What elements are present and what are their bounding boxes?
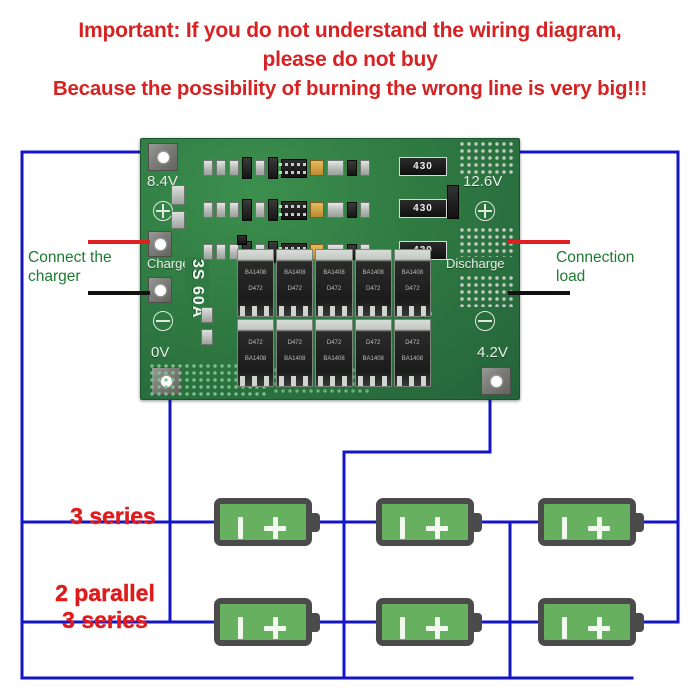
mosfet-legs xyxy=(358,306,389,316)
mosfet-marking: BA1408 xyxy=(277,356,312,362)
smd-resistor xyxy=(360,160,370,176)
smd-resistor xyxy=(171,185,185,205)
series-label-bottom: 2 parallel 3 series xyxy=(20,580,190,634)
smd-resistor xyxy=(203,160,213,176)
bms-board[interactable]: 8.4V 0V 12.6V 4.2V Charge Discharge CD F… xyxy=(140,138,520,400)
smd-transistor xyxy=(268,199,278,221)
smd-mosfet-small xyxy=(447,185,459,219)
mosfet: BA1408D472 xyxy=(237,249,274,317)
balance-ic xyxy=(281,159,307,178)
plus-pad-icon-left xyxy=(153,201,173,221)
smd-transistor xyxy=(242,157,252,179)
mosfet-marking: BA1408 xyxy=(356,356,391,362)
battery-positive-icon xyxy=(426,517,448,539)
mosfet-legs xyxy=(279,306,310,316)
mosfet-marking: D472 xyxy=(238,286,273,292)
battery-body xyxy=(538,498,636,546)
battery-body xyxy=(214,498,312,546)
battery-terminal-cap xyxy=(310,513,320,532)
warning-line-1: Important: If you do not understand the … xyxy=(0,16,700,45)
silk-voltage-bottom-right: 4.2V xyxy=(477,344,508,361)
mosfet-marking: BA1408 xyxy=(277,270,312,276)
series-label-bottom-line-2: 3 series xyxy=(20,607,190,634)
connect-charger-line-1: Connect the xyxy=(28,248,112,267)
smd-transistor xyxy=(268,157,278,179)
mosfet-marking: BA1408 xyxy=(395,270,430,276)
minus-pad-icon-left xyxy=(153,311,173,331)
smd-resistor xyxy=(229,160,239,176)
battery-body xyxy=(376,598,474,646)
mosfet-marking: BA1408 xyxy=(238,356,273,362)
battery-positive-icon xyxy=(264,617,286,639)
plus-pad-icon-right xyxy=(475,201,495,221)
mosfet: BA1408D472 xyxy=(276,249,313,317)
smd-resistor xyxy=(327,202,344,218)
mosfet-marking: D472 xyxy=(356,340,391,346)
mosfet-legs xyxy=(397,376,428,386)
smd-resistor xyxy=(255,160,265,176)
mosfet-marking: D472 xyxy=(356,286,391,292)
mosfet-marking: BA1408 xyxy=(356,270,391,276)
balance-ic xyxy=(281,201,307,220)
battery-cell[interactable] xyxy=(214,498,320,546)
mosfet-legs xyxy=(358,376,389,386)
battery-negative-icon xyxy=(238,617,243,639)
battery-terminal-cap xyxy=(310,613,320,632)
mosfet: BA1408D472 xyxy=(315,249,352,317)
battery-terminal-cap xyxy=(472,513,482,532)
battery-cell[interactable] xyxy=(538,598,644,646)
holes-discharge-positive[interactable] xyxy=(459,227,515,257)
holes-pack-positive[interactable] xyxy=(459,141,515,177)
mosfet-marking: BA1408 xyxy=(316,270,351,276)
mosfet-legs xyxy=(318,306,349,316)
smd-resistor xyxy=(360,202,370,218)
battery-body xyxy=(538,598,636,646)
mosfet-marking: BA1408 xyxy=(395,356,430,362)
battery-cell[interactable] xyxy=(376,598,482,646)
series-label-top: 3 series xyxy=(38,503,188,530)
smd-resistor xyxy=(216,160,226,176)
smd-resistor xyxy=(229,202,239,218)
battery-negative-icon xyxy=(238,517,243,539)
battery-negative-icon xyxy=(562,517,567,539)
battery-negative-icon xyxy=(400,517,405,539)
smd-resistor xyxy=(255,202,265,218)
smd-diode xyxy=(347,160,357,176)
mosfet-marking: D472 xyxy=(277,340,312,346)
mosfet-marking: BA1408 xyxy=(238,270,273,276)
connection-load-line-1: Connection xyxy=(556,248,634,267)
warning-line-2: please do not buy xyxy=(0,45,700,74)
smd-part xyxy=(201,329,213,345)
pad-b-minus-bottom-right[interactable] xyxy=(481,367,511,395)
warning-banner: Important: If you do not understand the … xyxy=(0,16,700,104)
mosfet: D472BA1408 xyxy=(394,319,431,387)
mosfet-legs xyxy=(318,376,349,386)
mosfet-legs xyxy=(279,376,310,386)
mosfet-marking: D472 xyxy=(316,340,351,346)
resistor-430-2: 430 xyxy=(399,199,447,218)
mosfet-marking: D472 xyxy=(316,286,351,292)
battery-positive-icon xyxy=(588,517,610,539)
battery-negative-icon xyxy=(400,617,405,639)
smd-resistor xyxy=(203,244,213,260)
battery-terminal-cap xyxy=(472,613,482,632)
battery-positive-icon xyxy=(588,617,610,639)
mosfet: D472BA1408 xyxy=(237,319,274,387)
holes-discharge-negative[interactable] xyxy=(459,275,515,307)
battery-terminal-cap xyxy=(634,513,644,532)
battery-positive-icon xyxy=(426,617,448,639)
resistor-430-1: 430 xyxy=(399,157,447,176)
battery-body xyxy=(376,498,474,546)
pad-charge-positive[interactable] xyxy=(148,231,172,257)
smd-diode xyxy=(347,202,357,218)
battery-positive-icon xyxy=(264,517,286,539)
mosfet-legs xyxy=(397,306,428,316)
mosfet: D472BA1408 xyxy=(276,319,313,387)
smd-capacitor xyxy=(310,202,324,218)
smd-resistor xyxy=(327,160,344,176)
connect-charger-label: Connect the charger xyxy=(28,248,112,286)
silk-voltage-bottom-left: 0V xyxy=(151,344,169,361)
mosfet: BA1408D472 xyxy=(394,249,431,317)
battery-cell[interactable] xyxy=(214,598,320,646)
smd-transistor xyxy=(242,199,252,221)
connection-load-line-2: load xyxy=(556,267,634,286)
mosfet-marking: D472 xyxy=(395,340,430,346)
smd-part xyxy=(237,235,247,245)
load-positive-lead xyxy=(508,240,570,244)
smd-resistor xyxy=(171,211,185,229)
mosfet: D472BA1408 xyxy=(355,319,392,387)
smd-part xyxy=(201,307,213,323)
silk-charge-label: Charge xyxy=(147,256,190,271)
connection-load-label: Connection load xyxy=(556,248,634,286)
mosfet-legs xyxy=(240,306,271,316)
battery-cell[interactable] xyxy=(538,498,644,546)
pad-charge-negative[interactable] xyxy=(148,277,172,303)
mosfet-marking: D472 xyxy=(277,286,312,292)
mosfet-legs xyxy=(240,376,271,386)
smd-resistor xyxy=(216,202,226,218)
charger-positive-lead xyxy=(88,240,150,244)
mosfet: D472BA1408 xyxy=(315,319,352,387)
charger-negative-lead xyxy=(88,291,150,295)
mosfet-marking: BA1408 xyxy=(316,356,351,362)
battery-negative-icon xyxy=(562,617,567,639)
mosfet-marking: D472 xyxy=(395,286,430,292)
load-negative-lead xyxy=(508,291,570,295)
mosfet: BA1408D472 xyxy=(355,249,392,317)
minus-pad-icon-right xyxy=(475,311,495,331)
battery-cell[interactable] xyxy=(376,498,482,546)
diagram-canvas: Important: If you do not understand the … xyxy=(0,0,700,700)
smd-resistor xyxy=(203,202,213,218)
smd-capacitor xyxy=(310,160,324,176)
smd-resistor xyxy=(216,244,226,260)
mosfet-marking: D472 xyxy=(238,340,273,346)
mosfet-array: BA1408D472 BA1408D472 BA1408D472 BA1408D… xyxy=(237,249,431,387)
battery-body xyxy=(214,598,312,646)
warning-line-3: Because the possibility of burning the w… xyxy=(0,74,700,104)
connect-charger-line-2: charger xyxy=(28,267,112,286)
series-label-bottom-line-1: 2 parallel xyxy=(20,580,190,607)
pad-b-plus-top-left[interactable] xyxy=(148,143,178,171)
battery-terminal-cap xyxy=(634,613,644,632)
